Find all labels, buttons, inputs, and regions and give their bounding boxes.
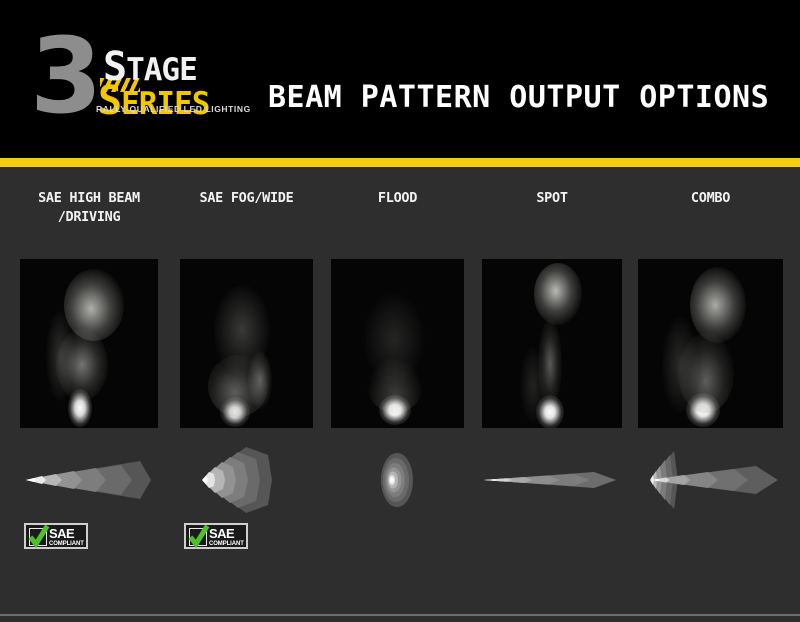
sae-badge-subtitle: COMPLIANT xyxy=(49,540,84,548)
beam-shape-wide-long-taper xyxy=(20,445,158,515)
sae-badge-text: SAE COMPLIANT xyxy=(209,527,244,548)
beam-pattern-diagram xyxy=(20,445,158,515)
column-sae-high-beam-driving: SAE HIGH BEAM /DRIVING SAE xyxy=(20,167,158,587)
beam-photo xyxy=(638,259,783,428)
logo-tagline: RALLY-QUALIFIED LED LIGHTING xyxy=(96,104,251,114)
logo-word-series: SERIES xyxy=(98,86,209,120)
column-label: FLOOD xyxy=(331,189,464,208)
beam-photo xyxy=(20,259,158,428)
beam-shape-round-short xyxy=(331,445,464,515)
beam-pattern-diagram xyxy=(482,445,622,515)
beam-photo xyxy=(180,259,313,428)
sae-badge-title: SAE xyxy=(49,527,84,540)
beam-photo xyxy=(331,259,464,428)
page-title: BEAM PATTERN OUTPUT OPTIONS xyxy=(268,80,769,115)
checkmark-icon xyxy=(189,528,207,546)
sae-badge-subtitle: COMPLIANT xyxy=(209,540,244,548)
column-sae-fog-wide: SAE FOG/WIDE SAE COMPLIA xyxy=(180,167,313,587)
logo-numeral: 3 xyxy=(30,24,96,128)
bottom-fill xyxy=(0,616,800,622)
sae-compliant-badge: SAE COMPLIANT xyxy=(24,523,88,549)
beam-pattern-diagram xyxy=(180,445,313,515)
beam-pattern-diagram xyxy=(331,445,464,515)
column-label: SAE HIGH BEAM /DRIVING xyxy=(20,189,158,227)
sae-badge-title: SAE xyxy=(209,527,244,540)
column-label: SPOT xyxy=(482,189,622,208)
beam-pattern-infographic: 3 STAGE SERIES RALLY-QUALIFIED LED LIGHT… xyxy=(0,0,800,622)
stage-series-logo: 3 STAGE SERIES RALLY-QUALIFIED LED LIGHT… xyxy=(30,28,240,128)
column-spot: SPOT xyxy=(482,167,622,587)
header-bar: 3 STAGE SERIES RALLY-QUALIFIED LED LIGHT… xyxy=(0,0,800,158)
beam-pattern-diagram xyxy=(638,445,783,515)
beam-shape-fan-plus-narrow-long xyxy=(638,445,783,515)
column-label: SAE FOG/WIDE xyxy=(180,189,313,208)
beam-shape-wide-short-fan xyxy=(180,445,313,515)
header-accent-rule xyxy=(0,158,800,167)
sae-badge-text: SAE COMPLIANT xyxy=(49,527,84,548)
column-flood: FLOOD xyxy=(331,167,464,587)
sae-compliant-badge: SAE COMPLIANT xyxy=(184,523,248,549)
beam-photo xyxy=(482,259,622,428)
beam-shape-narrow-long xyxy=(482,445,622,515)
checkmark-icon xyxy=(29,528,47,546)
column-combo: COMBO xyxy=(638,167,783,587)
column-label: COMBO xyxy=(638,189,783,208)
